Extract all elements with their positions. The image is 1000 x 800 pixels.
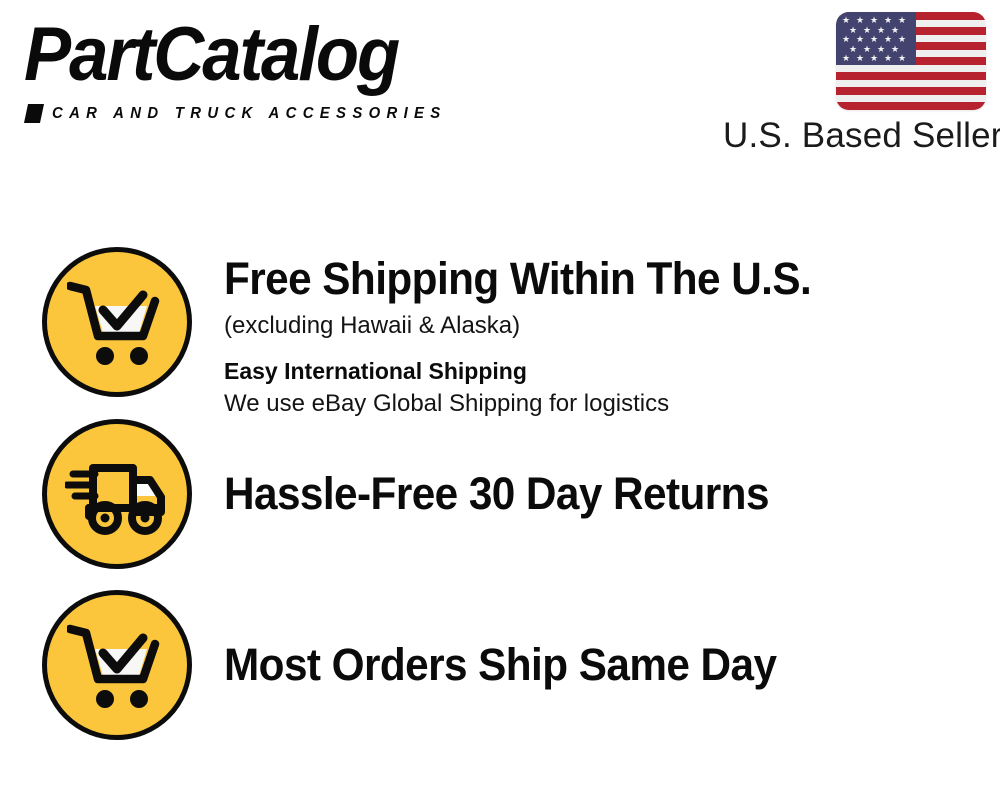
us-flag-badge: ★ ★ ★ ★ ★ ★ ★ ★ ★ ★ ★ ★ ★ ★ ★ ★ ★ ★ ★ ★: [836, 12, 986, 110]
feature-text-block: Hassle-Free 30 Day Returns: [192, 468, 1000, 520]
feature-subtitle: (excluding Hawaii & Alaska): [224, 309, 1000, 343]
feature-row: Most Orders Ship Same Day: [0, 590, 1000, 740]
feature-text-block: Free Shipping Within The U.S. (excluding…: [192, 247, 1000, 421]
us-based-seller-label: U.S. Based Seller: [723, 116, 988, 156]
feature-row: Hassle-Free 30 Day Returns: [0, 419, 1000, 569]
shopping-cart-check-icon: [42, 590, 192, 740]
feature-title: Most Orders Ship Same Day: [224, 639, 953, 691]
logo-wordmark: PartCatalog: [24, 14, 398, 96]
feature-title: Hassle-Free 30 Day Returns: [224, 468, 953, 520]
feature-title: Free Shipping Within The U.S.: [224, 253, 953, 305]
feature-secondary-title: Easy International Shipping: [224, 355, 1000, 387]
feature-secondary-subtitle: We use eBay Global Shipping for logistic…: [224, 387, 1000, 421]
banner-header: PartCatalog CAR AND TRUCK ACCESSORIES ★ …: [0, 0, 1000, 175]
logo-accent-mark-icon: [24, 104, 44, 123]
feature-row: Free Shipping Within The U.S. (excluding…: [0, 247, 1000, 421]
logo-tagline-row: CAR AND TRUCK ACCESSORIES: [26, 104, 463, 123]
logo-tagline: CAR AND TRUCK ACCESSORIES: [52, 105, 447, 123]
brand-logo: PartCatalog CAR AND TRUCK ACCESSORIES: [24, 18, 494, 118]
feature-text-block: Most Orders Ship Same Day: [192, 639, 1000, 691]
delivery-truck-icon: [42, 419, 192, 569]
us-flag-icon: ★ ★ ★ ★ ★ ★ ★ ★ ★ ★ ★ ★ ★ ★ ★ ★ ★ ★ ★ ★: [836, 12, 986, 110]
flag-canton: ★ ★ ★ ★ ★ ★ ★ ★ ★ ★ ★ ★ ★ ★ ★ ★ ★ ★ ★ ★: [836, 12, 916, 65]
shopping-cart-check-icon: [42, 247, 192, 397]
